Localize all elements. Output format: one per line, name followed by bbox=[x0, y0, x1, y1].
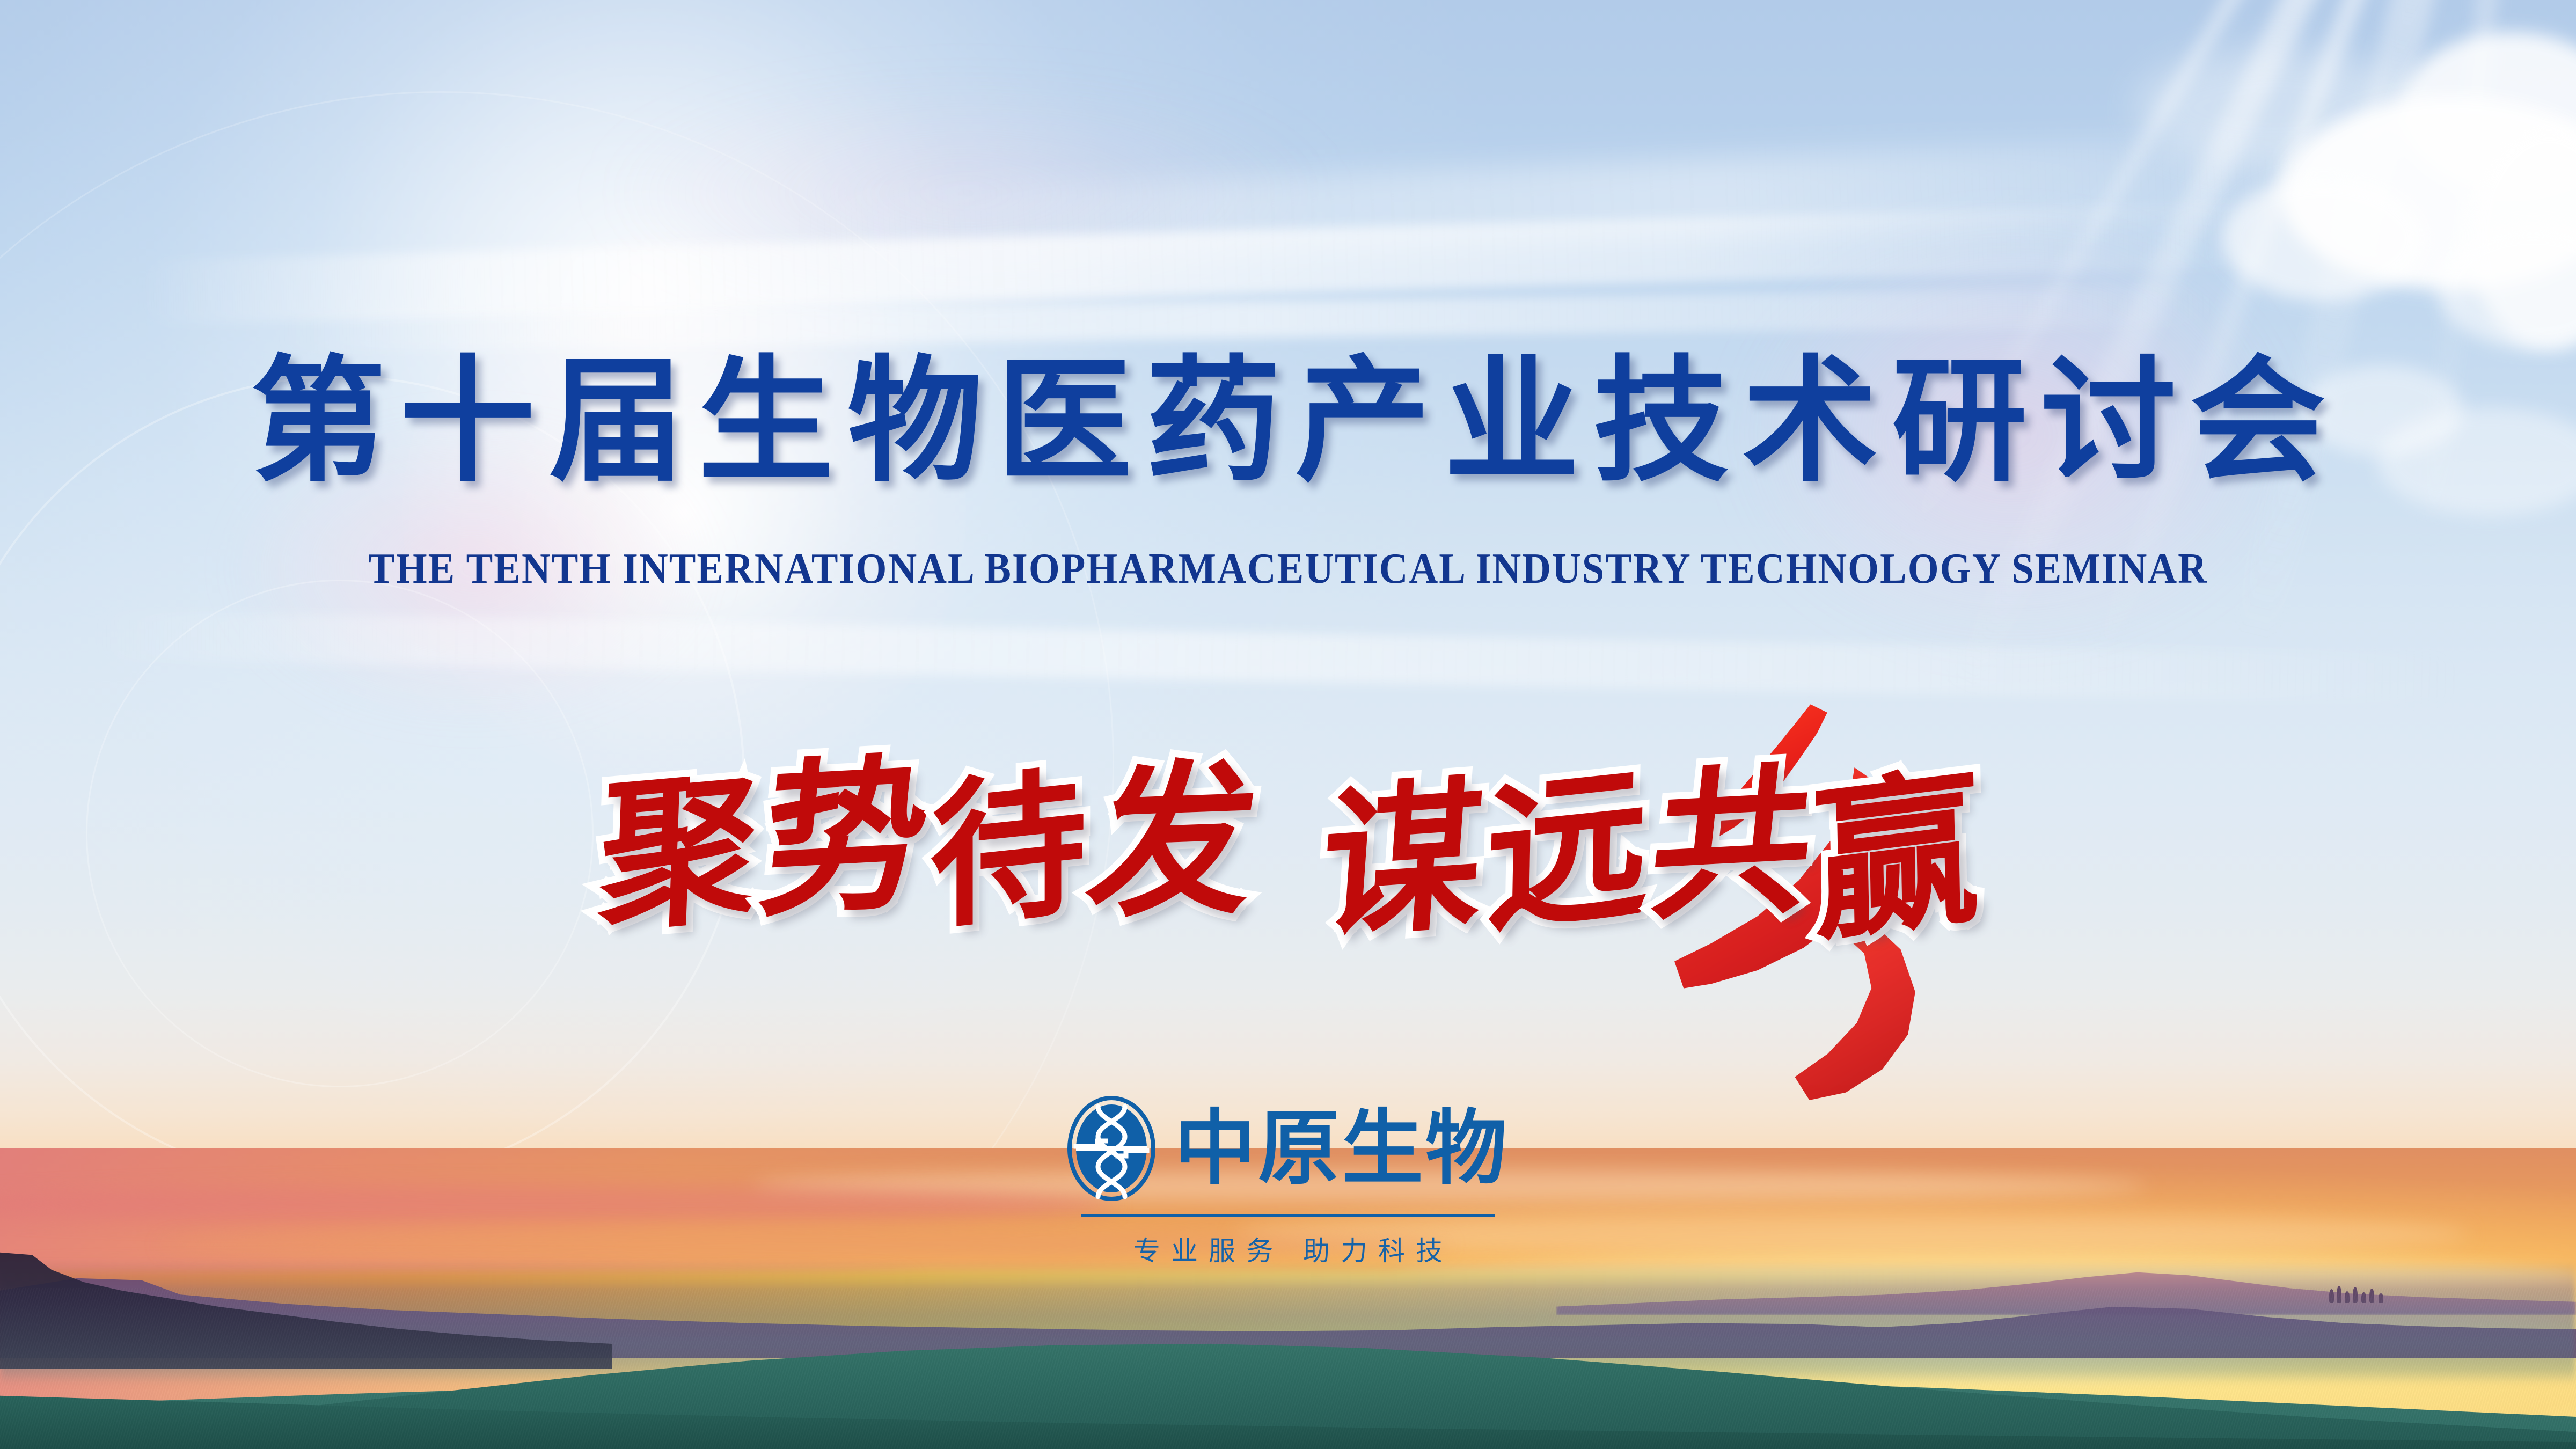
logo-tagline: 专业服务 助力科技 bbox=[1123, 1230, 1453, 1268]
poster-canvas: 第十届生物医药产业技术研讨会 THE TENTH INTERNATIONAL B… bbox=[0, 0, 2576, 1449]
poster-content: 第十届生物医药产业技术研讨会 THE TENTH INTERNATIONAL B… bbox=[0, 0, 2576, 1449]
calligraphy-char: 共 bbox=[1643, 759, 1821, 930]
dna-helix-oval-emblem-icon bbox=[1067, 1095, 1156, 1202]
calligraphy-char: 发 bbox=[1080, 757, 1267, 928]
company-logo: 中原生物 专业服务 助力科技 bbox=[0, 1095, 2576, 1268]
calligraphy-char: 远 bbox=[1485, 762, 1650, 943]
calligraphy-char: 聚 bbox=[597, 765, 763, 941]
slogan-block: 聚 势 待 发 谋 远 共 赢 bbox=[0, 682, 2576, 1014]
calligraphy-char: 势 bbox=[753, 751, 936, 927]
calligraphy-char: 赢 bbox=[1812, 763, 1981, 952]
calligraphy-slogan: 聚 势 待 发 谋 远 共 赢 bbox=[0, 682, 2576, 1014]
logo-wordmark: 中原生物 bbox=[1174, 1108, 1509, 1189]
logo-divider bbox=[1081, 1214, 1495, 1217]
calligraphy-group-one: 聚 势 待 发 bbox=[599, 767, 1253, 928]
page-subtitle: THE TENTH INTERNATIONAL BIOPHARMACEUTICA… bbox=[90, 547, 2486, 590]
calligraphy-char: 待 bbox=[930, 764, 1087, 939]
calligraphy-char: 谋 bbox=[1316, 774, 1488, 948]
calligraphy-group-two: 谋 远 共 赢 bbox=[1323, 767, 1977, 928]
page-title: 第十届生物医药产业技术研讨会 bbox=[0, 354, 2576, 489]
logo-row: 中原生物 bbox=[1067, 1095, 1509, 1202]
